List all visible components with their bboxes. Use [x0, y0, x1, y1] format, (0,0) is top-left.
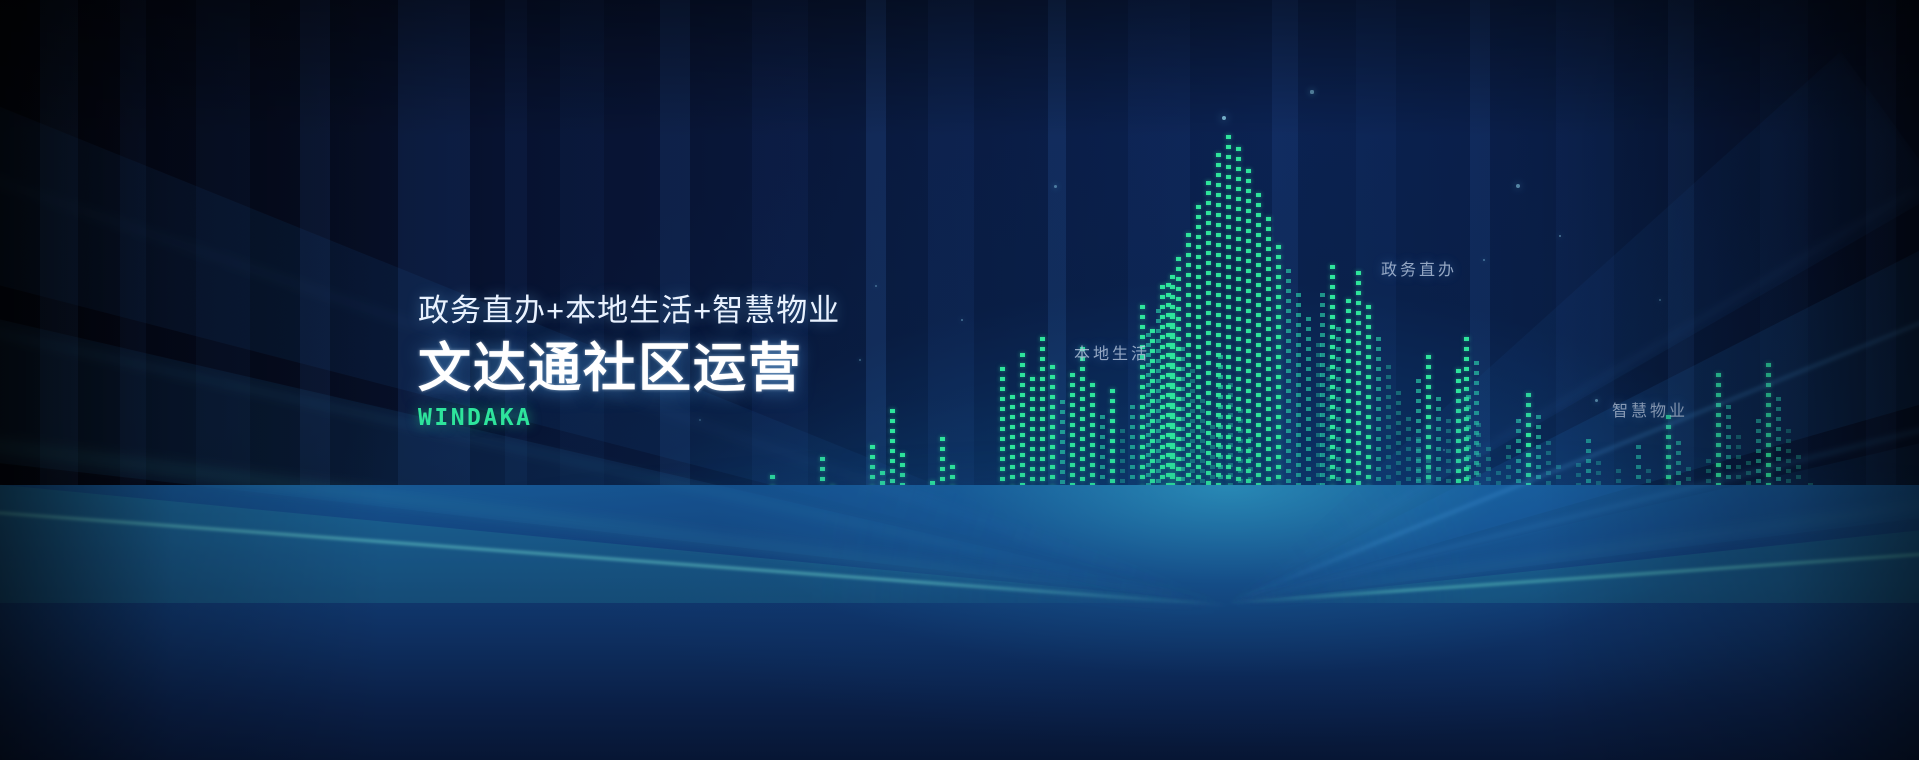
skyline-caption-smart-property: 智慧物业: [1612, 397, 1688, 421]
hero-text-block: 政务直办+本地生活+智慧物业 文达通社区运营 WINDAKA: [418, 292, 1038, 431]
perspective-ground: [0, 485, 1919, 760]
hero-subtitle: 政务直办+本地生活+智慧物业: [418, 292, 1038, 331]
brand-wordmark: WINDAKA: [418, 405, 1038, 431]
perspective-ray: [1227, 490, 1919, 605]
perspective-wedge: [1226, 517, 1919, 646]
perspective-ray: [1228, 546, 1919, 604]
banner-root: 政务直办 本地生活 智慧物业 政务直办+本地生活+智慧物业 文达通社区运营 WI…: [0, 0, 1919, 760]
perspective-ray: [0, 499, 1228, 606]
skyline-caption-government: 政务直办: [1381, 256, 1457, 280]
perspective-wedge: [0, 469, 1231, 670]
skyline-caption-local-life: 本地生活: [1074, 340, 1150, 364]
hero-title: 文达通社区运营: [418, 340, 1038, 397]
